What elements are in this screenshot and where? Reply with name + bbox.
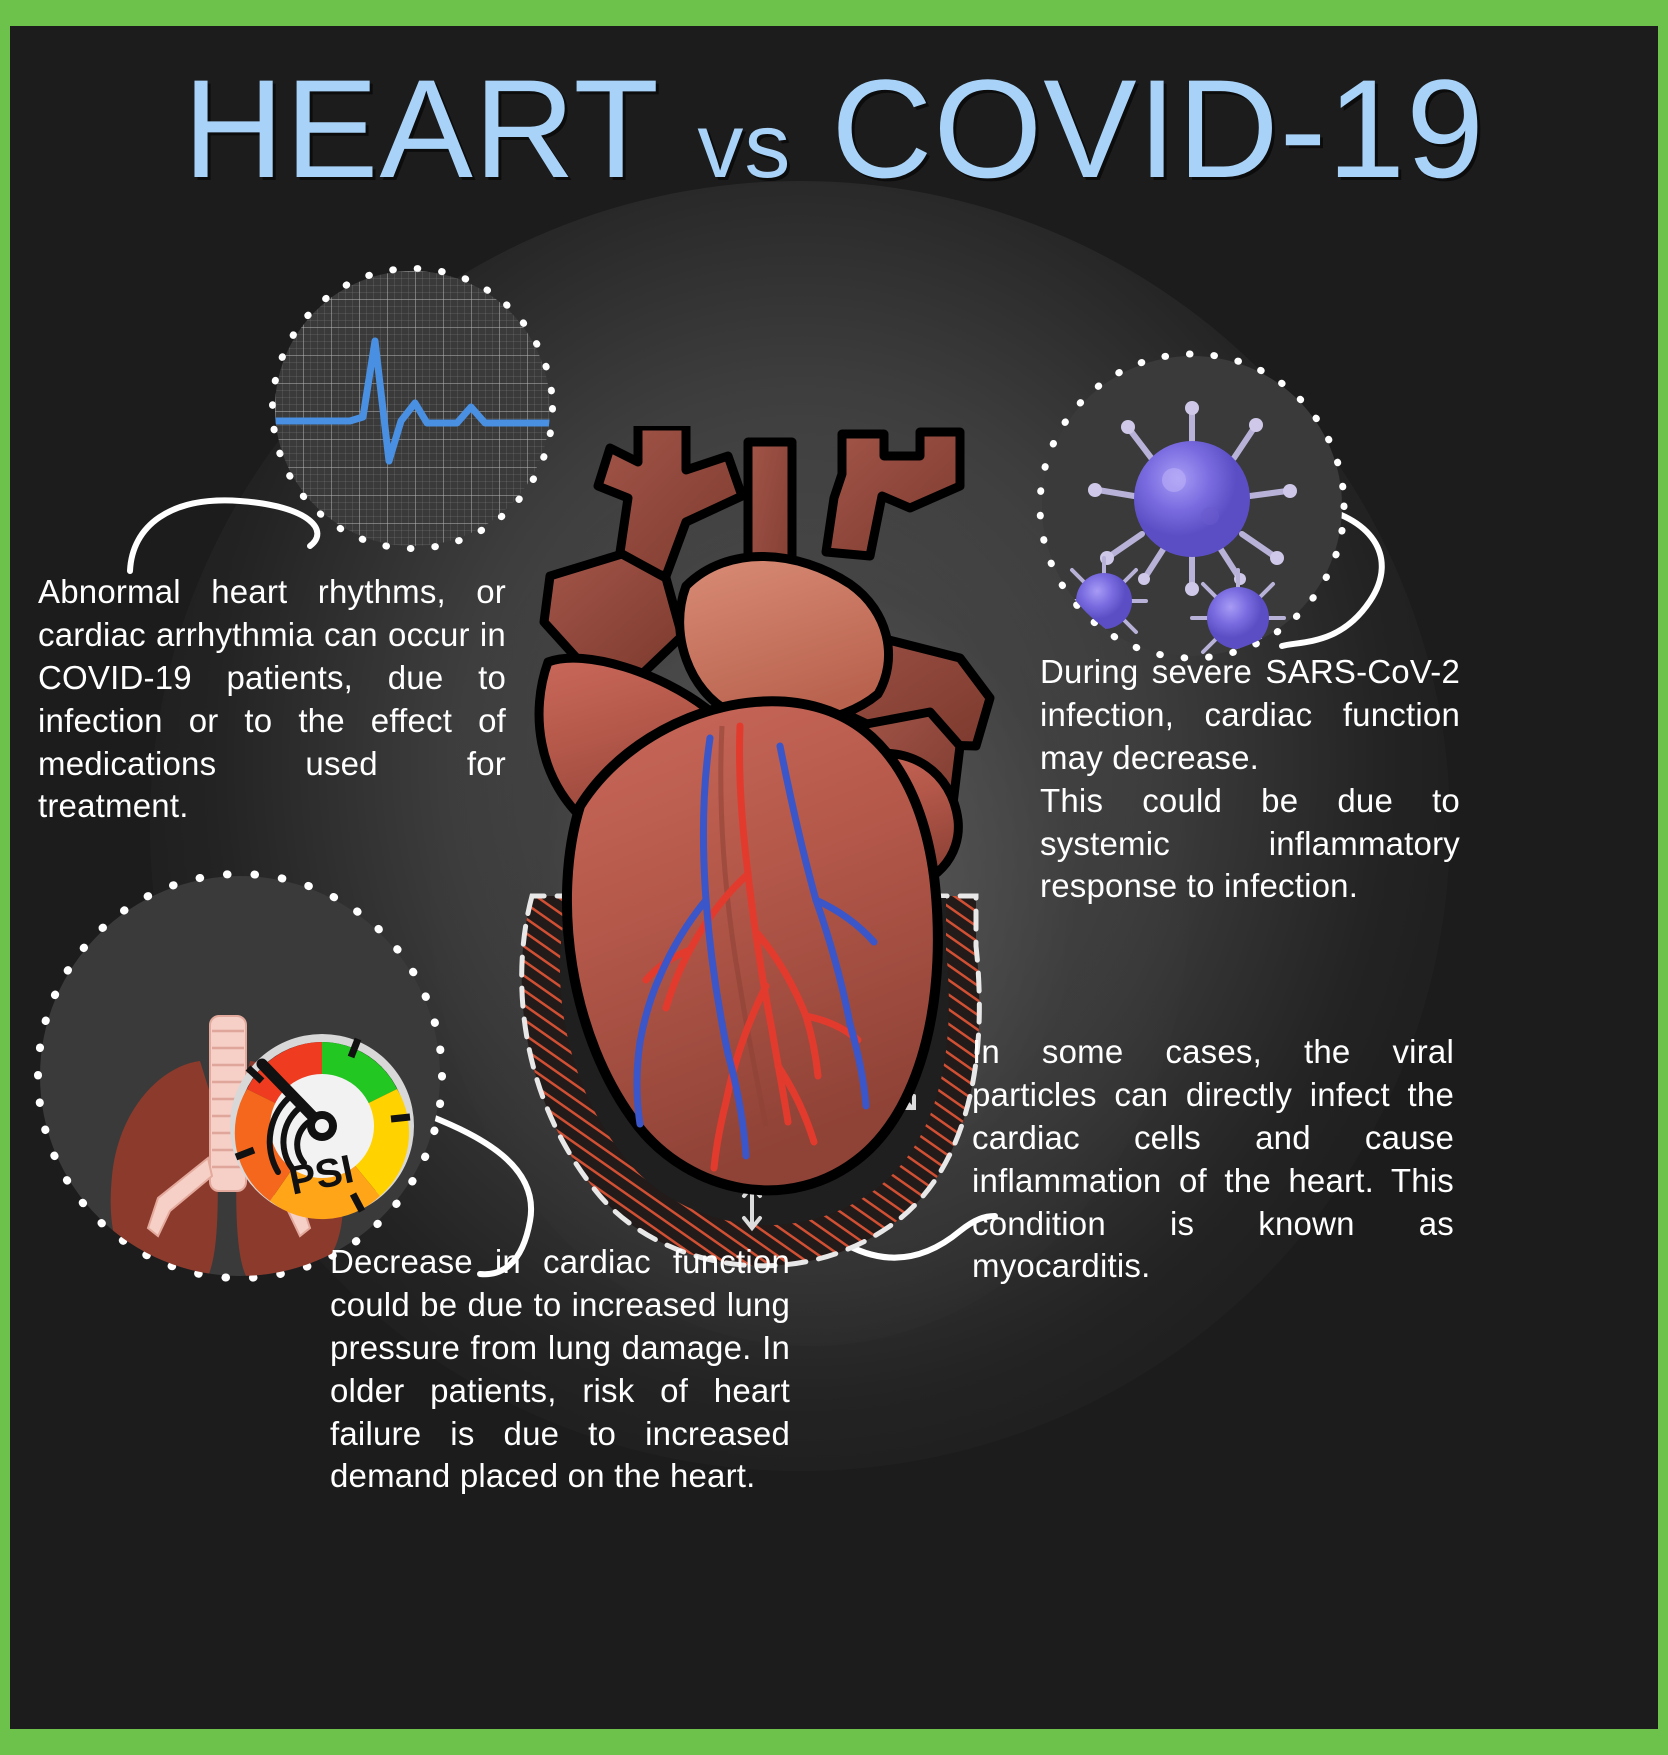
infographic-poster: HEART vs COVID-19 (0, 0, 1668, 1755)
left-border-bar (0, 0, 10, 1755)
title-heart: HEART (183, 50, 657, 207)
bottom-border-bar (0, 1729, 1668, 1755)
lung-pressure-paragraph: Decrease in cardiac function could be du… (330, 1241, 790, 1498)
coronavirus-particles-icon (1042, 356, 1342, 656)
myocarditis-paragraph: In some cases, the viral particles can d… (972, 1031, 1454, 1288)
lungs-pressure-gauge-icon: PSI (40, 876, 440, 1276)
callout-text-myocarditis: In some cases, the viral particles can d… (972, 1031, 1454, 1288)
virus-callout-bubble (1042, 356, 1342, 656)
lung-callout-bubble: PSI (40, 876, 440, 1276)
right-border-bar (1658, 0, 1668, 1755)
sars-paragraph-1: During severe SARS-CoV-2 infection, card… (1040, 651, 1460, 780)
page-title: HEART vs COVID-19 (10, 48, 1658, 210)
arrhythmia-paragraph: Abnormal heart rhythms, or cardiac arrhy… (38, 571, 506, 828)
virus-large (1088, 401, 1297, 596)
pressure-gauge-icon: PSI (230, 1034, 414, 1219)
callout-text-sars: During severe SARS-CoV-2 infection, card… (1040, 651, 1460, 908)
title-covid: COVID-19 (831, 50, 1485, 207)
poster-canvas: HEART vs COVID-19 (10, 26, 1658, 1729)
virus-bubble-inner (1042, 356, 1342, 656)
title-vs: vs (697, 95, 791, 197)
anatomical-heart-illustration (490, 426, 1050, 1286)
callout-text-arrhythmia: Abnormal heart rhythms, or cardiac arrhy… (38, 571, 506, 828)
top-border-bar (0, 0, 1668, 26)
callout-text-lung-pressure: Decrease in cardiac function could be du… (330, 1241, 790, 1498)
lung-bubble-inner: PSI (40, 876, 440, 1276)
sars-paragraph-2: This could be due to systemic inflammato… (1040, 780, 1460, 909)
